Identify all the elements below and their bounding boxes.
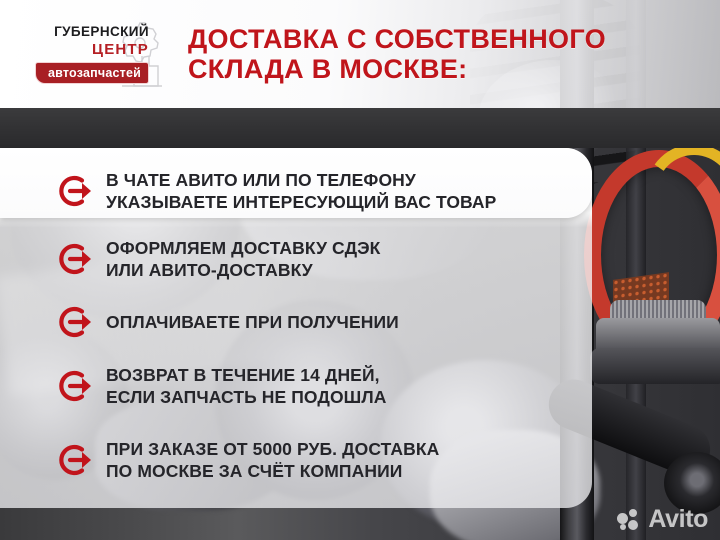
arrow-circle-right-icon xyxy=(56,442,94,478)
list-item-line-2: ИЛИ АВИТО-ДОСТАВКУ xyxy=(106,259,380,281)
list-item-text: ВОЗВРАТ В ТЕЧЕНИЕ 14 ДНЕЙ, ЕСЛИ ЗАПЧАСТЬ… xyxy=(106,364,387,409)
header-divider xyxy=(0,108,720,148)
avito-dots-icon xyxy=(617,509,643,531)
avito-wordmark: Avito xyxy=(648,507,708,532)
bg-mount-ring xyxy=(590,348,720,384)
list-item: ВОЗВРАТ В ТЕЧЕНИЕ 14 ДНЕЙ, ЕСЛИ ЗАПЧАСТЬ… xyxy=(0,349,592,423)
title-line-1: ДОСТАВКА С СОБСТВЕННОГО xyxy=(188,24,708,54)
list-item-line-1: ОПЛАЧИВАЕТЕ ПРИ ПОЛУЧЕНИИ xyxy=(106,311,399,333)
avito-watermark: Avito xyxy=(617,507,708,532)
logo-line-1: ГУБЕРНСКИЙ xyxy=(29,24,149,40)
arrow-circle-right-icon xyxy=(56,173,94,209)
logo-text-block: ГУБЕРНСКИЙ ЦЕНТР автозапчастей xyxy=(29,24,149,84)
list-item: ПРИ ЗАКАЗЕ ОТ 5000 РУБ. ДОСТАВКА ПО МОСК… xyxy=(0,423,592,497)
list-item-text: В ЧАТЕ АВИТО ИЛИ ПО ТЕЛЕФОНУ УКАЗЫВАЕТЕ … xyxy=(106,169,496,214)
list-item-line-1: В ЧАТЕ АВИТО ИЛИ ПО ТЕЛЕФОНУ xyxy=(106,169,496,191)
header-bar: ГУБЕРНСКИЙ ЦЕНТР автозапчастей ДОСТАВКА … xyxy=(0,0,720,108)
list-item-line-2: УКАЗЫВАЕТЕ ИНТЕРЕСУЮЩИЙ ВАС ТОВАР xyxy=(106,191,496,213)
list-item: В ЧАТЕ АВИТО ИЛИ ПО ТЕЛЕФОНУ УКАЗЫВАЕТЕ … xyxy=(0,161,592,221)
list-item-line-1: ОФОРМЛЯЕМ ДОСТАВКУ СДЭК xyxy=(106,237,380,259)
arrow-circle-right-icon xyxy=(56,304,94,340)
promo-banner: ГУБЕРНСКИЙ ЦЕНТР автозапчастей ДОСТАВКА … xyxy=(0,0,720,540)
arrow-circle-right-icon xyxy=(56,368,94,404)
list-item: ОПЛАЧИВАЕТЕ ПРИ ПОЛУЧЕНИИ xyxy=(0,295,592,349)
page-title: ДОСТАВКА С СОБСТВЕННОГО СКЛАДА В МОСКВЕ: xyxy=(178,24,720,84)
logo-banner: автозапчастей xyxy=(35,62,149,84)
list-item-text: ОФОРМЛЯЕМ ДОСТАВКУ СДЭК ИЛИ АВИТО-ДОСТАВ… xyxy=(106,237,380,282)
list-item-text: ОПЛАЧИВАЕТЕ ПРИ ПОЛУЧЕНИИ xyxy=(106,311,399,333)
list-item: ОФОРМЛЯЕМ ДОСТАВКУ СДЭК ИЛИ АВИТО-ДОСТАВ… xyxy=(0,223,592,295)
logo-line-2: ЦЕНТР xyxy=(29,41,149,59)
list-item-text: ПРИ ЗАКАЗЕ ОТ 5000 РУБ. ДОСТАВКА ПО МОСК… xyxy=(106,438,439,483)
title-line-2: СКЛАДА В МОСКВЕ: xyxy=(188,54,708,84)
list-item-line-1: ВОЗВРАТ В ТЕЧЕНИЕ 14 ДНЕЙ, xyxy=(106,364,387,386)
arrow-circle-right-icon xyxy=(56,241,94,277)
list-item-line-2: ПО МОСКВЕ ЗА СЧЁТ КОМПАНИИ xyxy=(106,460,439,482)
list-item-line-1: ПРИ ЗАКАЗЕ ОТ 5000 РУБ. ДОСТАВКА xyxy=(106,438,439,460)
steps-list: В ЧАТЕ АВИТО ИЛИ ПО ТЕЛЕФОНУ УКАЗЫВАЕТЕ … xyxy=(0,148,592,508)
list-item-line-2: ЕСЛИ ЗАПЧАСТЬ НЕ ПОДОШЛА xyxy=(106,386,387,408)
company-logo[interactable]: ГУБЕРНСКИЙ ЦЕНТР автозапчастей xyxy=(0,0,178,108)
